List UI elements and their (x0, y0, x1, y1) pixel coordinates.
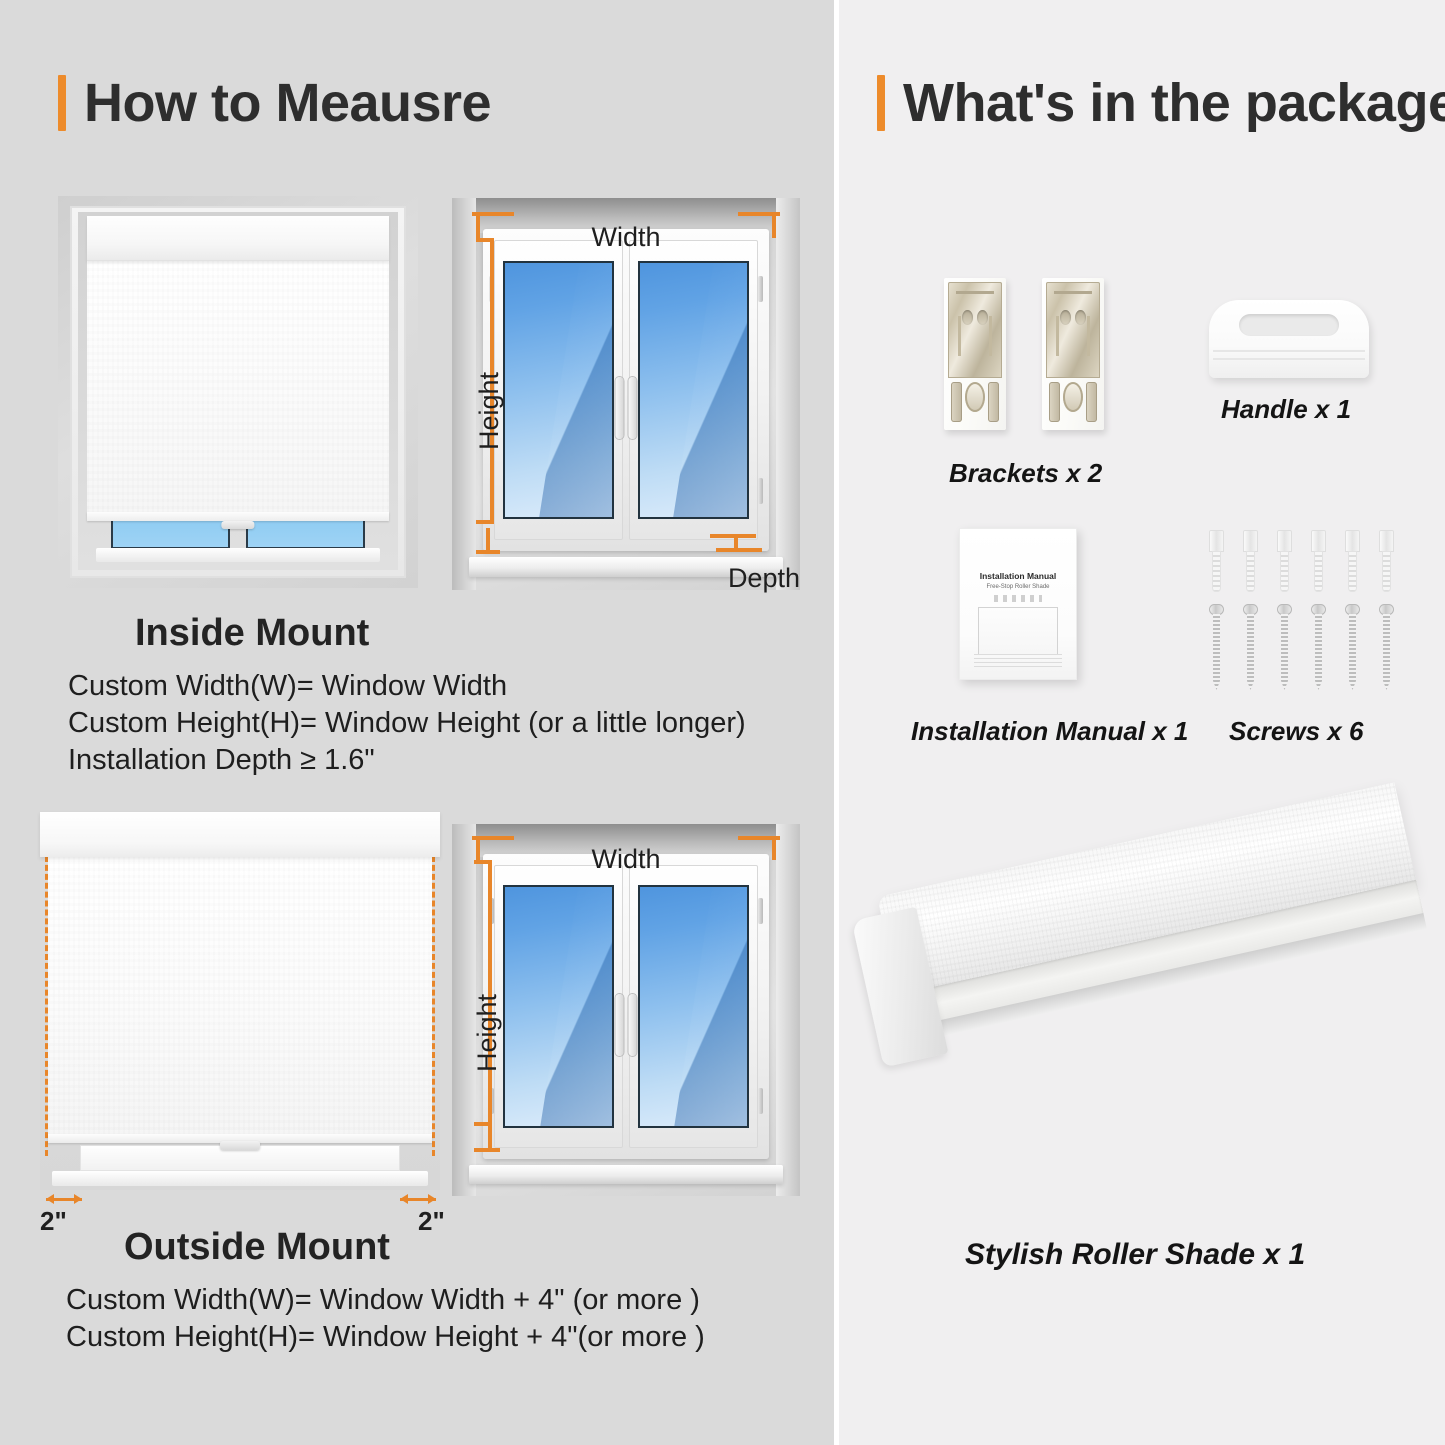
how-to-measure-heading: How to Meausre (58, 72, 491, 134)
screw-1 (1209, 604, 1224, 690)
corner-tick (772, 836, 776, 860)
glass-pane-left (111, 517, 230, 548)
accent-bar-icon (58, 75, 66, 131)
bracket-center-hole (1063, 382, 1083, 412)
bracket-metal-body (948, 282, 1002, 378)
inside-mount-window-diagram: Width Height Depth (452, 198, 800, 590)
window-sill (52, 1171, 428, 1186)
inside-mount-line-1: Custom Width(W)= Window Width (68, 668, 746, 705)
outside-mount-shade-illustration (40, 812, 440, 1190)
outside-mount-title: Outside Mount (124, 1226, 390, 1269)
glass-pane-right (638, 261, 748, 518)
screw-5 (1345, 604, 1360, 690)
handle-ridge (1213, 358, 1365, 360)
hinge-icon (758, 276, 763, 302)
package-heading: What's in the package (877, 72, 1445, 134)
label-depth: Depth (728, 563, 800, 594)
reveal-right (776, 198, 800, 590)
handle-part (1209, 300, 1369, 378)
reveal-left (452, 198, 476, 590)
window-handles-icon (616, 994, 637, 1056)
screw-4 (1311, 604, 1326, 690)
depth-tick (486, 528, 490, 554)
bracket-slot (1086, 382, 1097, 422)
wall-anchor-6 (1379, 530, 1394, 592)
window-frame (483, 229, 768, 550)
inside-mount-line-2: Custom Height(H)= Window Height (or a li… (68, 705, 746, 742)
window-sash-left (494, 240, 622, 539)
manual-cover-diagram (978, 607, 1058, 655)
bracket-slot (1049, 382, 1060, 422)
shade-fabric (48, 857, 432, 1137)
screw-2 (1243, 604, 1258, 690)
corner-tick (772, 212, 776, 238)
glass-pane-right (246, 517, 365, 548)
overhang-label-right: 2" (418, 1206, 445, 1237)
window-sash-right (629, 240, 757, 539)
inside-mount-title: Inside Mount (135, 612, 369, 655)
label-width: Width (591, 222, 660, 253)
wall-anchor-3 (1277, 530, 1292, 592)
hinge-icon (758, 898, 763, 924)
outside-mount-text: Custom Width(W)= Window Width + 4" (or m… (66, 1282, 705, 1356)
screw-3 (1277, 604, 1292, 690)
depth-connector (734, 534, 738, 552)
wall-anchor-5 (1345, 530, 1360, 592)
depth-mark-top (710, 534, 756, 538)
page-title-right: What's in the package (903, 72, 1445, 134)
inside-mount-text: Custom Width(W)= Window Width Custom Hei… (68, 668, 746, 779)
manual-cover-title: Installation Manual (960, 571, 1076, 581)
screw-6 (1379, 604, 1394, 690)
package-contents-panel: What's in the package Brackets x 2 (839, 0, 1445, 1445)
outside-mount-window-diagram: Width Height (452, 824, 800, 1196)
screws-label: Screws x 6 (1229, 716, 1363, 747)
corner-tick (476, 212, 480, 238)
inside-mount-line-3: Installation Depth ≥ 1.6" (68, 742, 746, 779)
label-width: Width (591, 844, 660, 875)
accent-bar-icon (877, 75, 885, 131)
bracket-arm (1056, 316, 1090, 356)
bracket-metal-body (1046, 282, 1100, 378)
manual-label: Installation Manual x 1 (911, 716, 1188, 747)
height-tick-top (476, 238, 494, 242)
glass-pane-left (503, 885, 613, 1128)
height-tick-mid (474, 1122, 492, 1126)
corner-tick (476, 836, 480, 860)
shade-bottom-bar (87, 512, 389, 521)
overhang-label-left: 2" (40, 1206, 67, 1237)
handle-label: Handle x 1 (1221, 394, 1351, 425)
manual-cover-subtitle: Free-Stop Roller Shade (960, 584, 1076, 590)
label-height: Height (472, 994, 503, 1072)
wall-anchor-4 (1311, 530, 1326, 592)
bracket-arm (958, 316, 992, 356)
window-sill (96, 548, 380, 562)
window-sash-right (629, 865, 757, 1148)
shade-pull-handle-icon (221, 521, 254, 529)
wall-anchor-2 (1243, 530, 1258, 592)
shade-assembly (87, 216, 389, 565)
infographic-page: How to Meausre (0, 0, 1445, 1445)
outside-mount-line-2: Custom Height(H)= Window Height + 4"(or … (66, 1319, 705, 1356)
overhang-arrow-right (400, 1198, 436, 1201)
depth-mark-bottom (716, 548, 762, 552)
overhang-guide-right (432, 856, 435, 1156)
glass-pane-left (503, 261, 613, 518)
handle-ridge (1213, 350, 1365, 352)
reveal-right (776, 824, 800, 1196)
wall-anchor-1 (1209, 530, 1224, 592)
shade-pull-handle-icon (220, 1141, 260, 1150)
shade-cassette (40, 812, 440, 857)
shade-fabric (87, 261, 389, 516)
hinge-icon (758, 478, 763, 504)
height-tick-bottom (476, 520, 494, 524)
height-tick-top (474, 860, 492, 864)
window-sash-left (494, 865, 622, 1148)
handle-grip-cutout (1239, 314, 1339, 336)
height-tick-bottom (474, 1148, 500, 1152)
brackets-label: Brackets x 2 (949, 458, 1102, 489)
glass-pane-right (638, 885, 748, 1128)
roller-shade-label: Stylish Roller Shade x 1 (965, 1238, 1305, 1272)
bracket-slot (951, 382, 962, 422)
label-height: Height (474, 372, 505, 450)
window-handles-icon (616, 377, 637, 439)
manual-cover-scribble (994, 595, 1042, 602)
window-sill (469, 1165, 782, 1184)
roller-shade-product (879, 900, 1439, 1190)
hinge-icon (758, 1088, 763, 1114)
bracket-center-hole (965, 382, 985, 412)
how-to-measure-panel: How to Meausre (0, 0, 834, 1445)
installation-manual-part: Installation Manual Free-Stop Roller Sha… (959, 528, 1077, 680)
window-frame (483, 854, 768, 1159)
page-title-left: How to Meausre (84, 72, 491, 134)
bracket-part-1 (944, 278, 1006, 430)
manual-cover-footer (974, 653, 1062, 667)
bracket-part-2 (1042, 278, 1104, 430)
bracket-slot (988, 382, 999, 422)
overhang-arrow-left (46, 1198, 82, 1201)
inside-mount-shade-illustration (58, 196, 418, 588)
shade-tube (848, 782, 1445, 1186)
shade-cassette (87, 216, 389, 261)
outside-mount-line-1: Custom Width(W)= Window Width + 4" (or m… (66, 1282, 705, 1319)
